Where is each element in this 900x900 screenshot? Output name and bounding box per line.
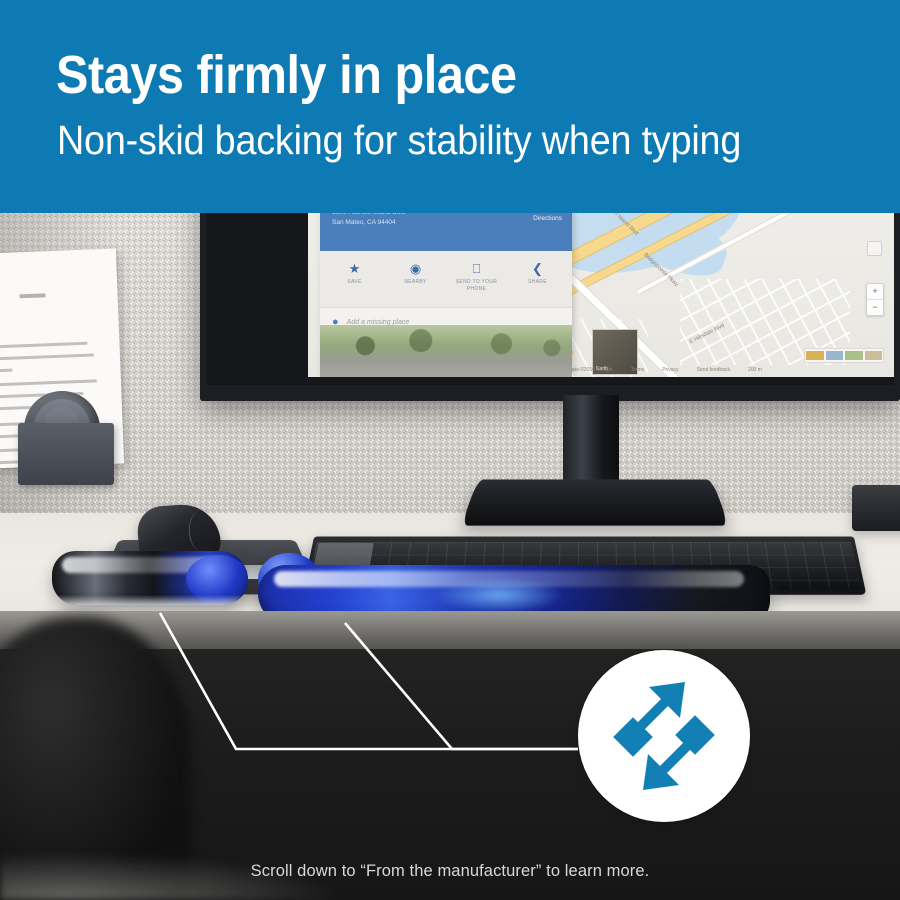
computer-monitor: Fashion Island Fisher Investments San Ma… — [200, 213, 900, 401]
gel-base-rim — [56, 595, 244, 605]
imagery-swatch — [865, 351, 883, 360]
monitor-screen: Fashion Island Fisher Investments San Ma… — [308, 213, 894, 377]
footer-caption: Scroll down to “From the manufacturer” t… — [0, 862, 900, 881]
action-save-label: SAVE — [324, 279, 385, 286]
maps-card-header: Work✎ 1600 Fashion Island Blvd San Mateo… — [320, 213, 572, 251]
address-line-2: San Mateo, CA 94404 — [332, 218, 560, 228]
action-nearby[interactable]: ◉ NEARBY — [385, 261, 446, 301]
zoom-controls[interactable]: + − — [866, 283, 884, 316]
imagery-swatch — [826, 351, 844, 360]
map-attribution: Map data ©2016 GoogleTermsPrivacySend fe… — [558, 367, 780, 373]
maps-card-actions: ★ SAVE ◉ NEARBY ⎕ SEND TO YOUR PHONE ❮ — [320, 251, 572, 307]
attrib-privacy[interactable]: Privacy — [662, 367, 678, 373]
pegman-icon[interactable] — [867, 241, 882, 256]
nearby-icon: ◉ — [385, 261, 446, 276]
send-to-phone-icon: ⎕ — [446, 261, 507, 276]
action-send-to-phone-label: SEND TO YOUR PHONE — [446, 279, 507, 293]
attrib-terms[interactable]: Terms — [631, 367, 645, 373]
attrib-scale: 200 m — [748, 367, 762, 373]
imagery-swatch — [806, 351, 824, 360]
action-share-label: SHARE — [507, 279, 568, 286]
zoom-out-button[interactable]: − — [867, 300, 883, 315]
star-icon: ★ — [324, 261, 385, 276]
maps-place-card: Work✎ 1600 Fashion Island Blvd San Mateo… — [320, 213, 572, 377]
imagery-strip[interactable] — [804, 348, 884, 363]
non-skid-arrows-badge — [578, 650, 750, 822]
action-save[interactable]: ★ SAVE — [324, 261, 385, 301]
document-holder-base — [18, 423, 114, 485]
black-box-object — [852, 485, 900, 531]
action-nearby-label: NEARBY — [385, 279, 446, 286]
gel-mouse-wrist-rest — [52, 551, 248, 605]
header-banner: Stays firmly in place Non-skid backing f… — [0, 0, 900, 213]
monitor-stand-base — [461, 480, 729, 526]
product-marketing-image: Stays firmly in place Non-skid backing f… — [0, 0, 900, 900]
gel-inner-glow — [434, 577, 564, 613]
place-address: 1600 Fashion Island Blvd San Mateo, CA 9… — [332, 213, 560, 228]
share-icon: ❮ — [507, 261, 568, 276]
product-photo: Fashion Island Fisher Investments San Ma… — [0, 213, 900, 900]
attrib-feedback[interactable]: Send feedback — [697, 367, 730, 373]
imagery-swatch — [845, 351, 863, 360]
place-photo[interactable] — [320, 325, 572, 377]
page-title: Stays firmly in place — [56, 45, 517, 105]
directions-button[interactable]: Directions — [533, 215, 562, 222]
page-subtitle: Non-skid backing for stability when typi… — [57, 116, 741, 164]
two-diagonal-arrows-icon — [608, 678, 720, 794]
action-share[interactable]: ❮ SHARE — [507, 261, 568, 301]
zoom-in-button[interactable]: + — [867, 284, 883, 300]
monitor-stand-neck — [563, 395, 619, 487]
action-send-to-phone[interactable]: ⎕ SEND TO YOUR PHONE — [446, 261, 507, 301]
